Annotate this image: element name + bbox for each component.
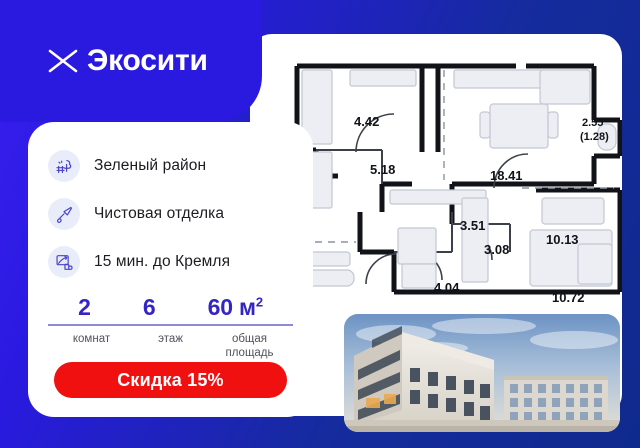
feature-label: 15 мин. до Кремля (94, 253, 230, 271)
discount-button[interactable]: Скидка 15% (54, 362, 287, 398)
feature-item-kremlin-distance: 15 мин. до Кремля (48, 240, 313, 284)
room-label-balcony-net: (1.28) (580, 131, 609, 143)
building-render-photo[interactable] (344, 314, 620, 432)
floor-plan-drawing: 4.42 5.18 18.41 2.55 (1.28) 3.51 3.08 4.… (294, 52, 622, 314)
brand-logo-panel: Экосити (0, 0, 262, 122)
park-tree-icon (48, 150, 80, 182)
room-label-hall: 5.18 (370, 162, 395, 177)
room-label-bedroom-2: 10.72 (552, 290, 585, 305)
x-mark-icon (48, 48, 78, 74)
stat-value-area-number: 60 м (208, 294, 256, 320)
room-label-living: 18.41 (490, 168, 523, 183)
property-stats: 2 6 60 м2 комнат этаж общая площадь (48, 296, 293, 360)
stat-value-floor: 6 (143, 296, 156, 319)
brand-name: Экосити (87, 46, 208, 76)
trowel-icon (48, 198, 80, 230)
room-label-passage: 3.08 (484, 242, 509, 257)
room-label-balcony: 2.55 (582, 117, 603, 129)
feature-item-finishing: Чистовая отделка (48, 192, 313, 236)
stat-labels-row: комнат этаж общая площадь (48, 326, 293, 361)
stat-label-floor: этаж (132, 332, 210, 346)
stat-value-area-sup: 2 (256, 294, 263, 309)
feature-item-green-district: Зеленый район (48, 144, 313, 188)
listing-card: Экосити (0, 0, 640, 448)
room-label-bathroom: 4.04 (434, 280, 460, 295)
feature-label: Чистовая отделка (94, 205, 224, 223)
feature-list: Зеленый район Чистовая отделка (28, 122, 313, 284)
stat-value-area: 60 м2 (208, 296, 263, 319)
room-label-kitchen: 4.42 (354, 114, 379, 129)
stat-label-rooms: комнат (53, 332, 131, 346)
room-label-corridor: 3.51 (460, 218, 485, 233)
map-route-icon (48, 246, 80, 278)
info-card: Зеленый район Чистовая отделка (28, 122, 313, 417)
building-render-image (344, 314, 620, 432)
stat-label-area: общая площадь (211, 332, 289, 361)
feature-label: Зеленый район (94, 157, 206, 175)
room-label-bedroom-1: 10.13 (546, 232, 579, 247)
stat-values-row: 2 6 60 м2 (48, 296, 293, 324)
stat-value-rooms: 2 (78, 296, 91, 319)
